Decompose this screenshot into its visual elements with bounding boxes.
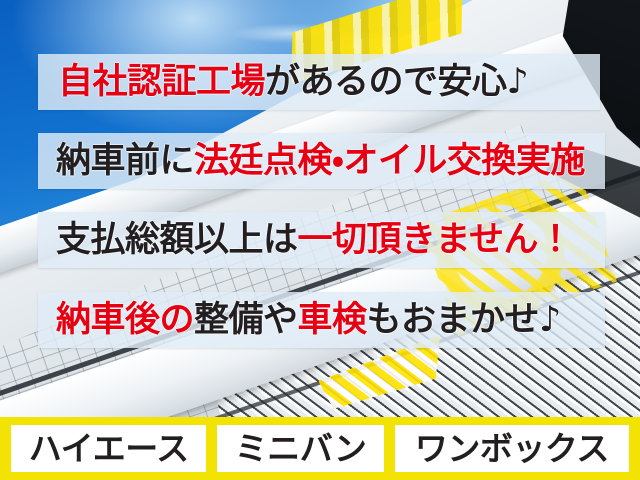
message-bar-3-segment-1: 支払総額以上は <box>56 220 298 260</box>
message-bar-2: 納車前に法廷点検・オイル交換実施 <box>38 133 605 189</box>
message-bar-2-segment-1: 納車前に <box>56 141 194 181</box>
message-bar-2-text: 納車前に法廷点検・オイル交換実施 <box>38 144 585 179</box>
vehicle-category-footer: ハイエース ミニバン ワンボックス <box>0 417 640 480</box>
message-bar-3-text: 支払総額以上は一切頂きません！ <box>38 223 572 258</box>
message-bar-2-segment-2: 法廷点検・オイル交換実施 <box>194 141 585 181</box>
service-promo-banner: 自社認証工場があるので安心♪ 納車前に法廷点検・オイル交換実施 支払総額以上は一… <box>0 0 640 480</box>
message-bar-3: 支払総額以上は一切頂きません！ <box>38 212 605 268</box>
message-bar-4-segment-1: 納車後の <box>56 300 194 340</box>
category-chip-onebox[interactable]: ワンボックス <box>395 425 629 472</box>
category-chip-hiace[interactable]: ハイエース <box>11 425 206 472</box>
message-bar-4-segment-3: 車検 <box>298 300 367 340</box>
message-bar-4-text: 納車後の整備や車検もおまかせ♪ <box>38 303 561 338</box>
message-bar-1-text: 自社認証工場があるので安心♪ <box>38 65 528 100</box>
message-bar-4-segment-4: もおまかせ♪ <box>367 300 561 340</box>
message-bar-1-segment-2: があるので安心♪ <box>265 62 528 102</box>
message-bar-4-segment-2: 整備や <box>194 300 298 340</box>
message-bar-4: 納車後の整備や車検もおまかせ♪ <box>38 292 605 348</box>
message-bar-1: 自社認証工場があるので安心♪ <box>38 54 600 110</box>
message-bar-1-segment-1: 自社認証工場 <box>58 62 265 102</box>
message-bar-3-segment-2: 一切頂きません！ <box>298 220 573 260</box>
category-chip-minivan[interactable]: ミニバン <box>217 425 383 472</box>
